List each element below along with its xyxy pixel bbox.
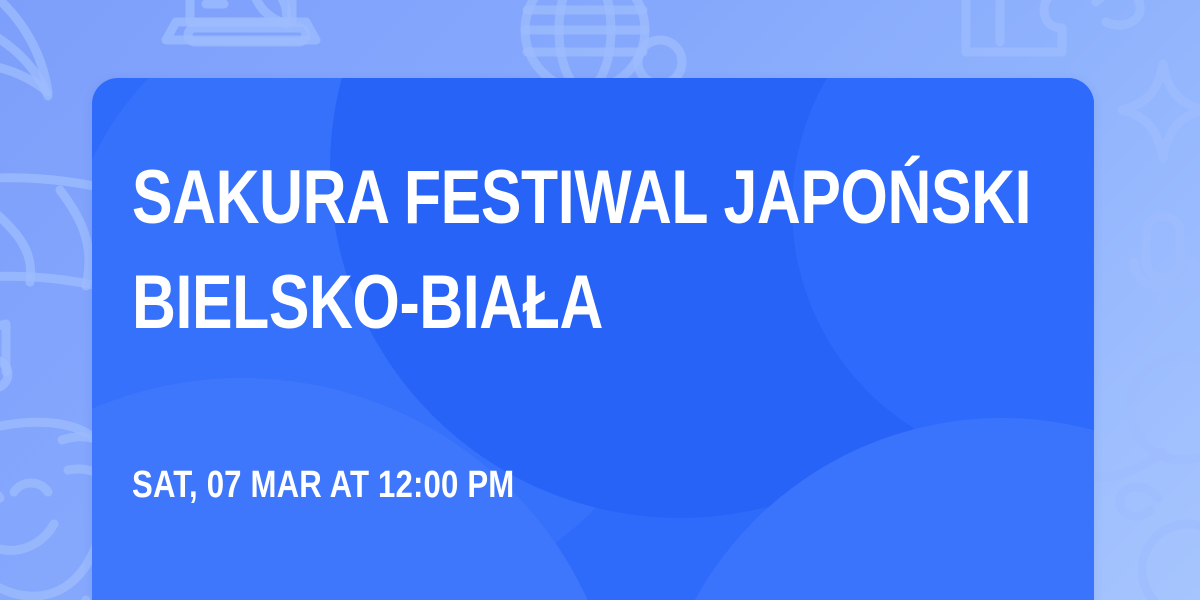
- event-card[interactable]: SAKURA FESTIWAL JAPOŃSKI BIELSKO-BIAŁA S…: [92, 78, 1094, 600]
- globe-icon: [525, 0, 645, 90]
- event-banner: SAKURA FESTIWAL JAPOŃSKI BIELSKO-BIAŁA S…: [0, 0, 1200, 600]
- ticket-icon: [966, 0, 1062, 52]
- music-note-icon: [0, 324, 8, 398]
- event-date: SAT, 07 MAR AT 12:00 PM: [132, 466, 514, 504]
- event-title: SAKURA FESTIWAL JAPOŃSKI BIELSKO-BIAŁA: [132, 146, 1031, 356]
- event-title-line-2: BIELSKO-BIAŁA: [132, 251, 1031, 356]
- laptop-desk-icon: [166, 0, 316, 42]
- card-content: SAKURA FESTIWAL JAPOŃSKI BIELSKO-BIAŁA S…: [132, 78, 1094, 600]
- microphone-icon: [1134, 216, 1192, 318]
- event-title-line-1: SAKURA FESTIWAL JAPOŃSKI: [132, 146, 1031, 251]
- curtain-icon: [0, 0, 48, 96]
- sparkle-icon: [1122, 64, 1200, 158]
- ribbon-icon: [1096, 0, 1140, 25]
